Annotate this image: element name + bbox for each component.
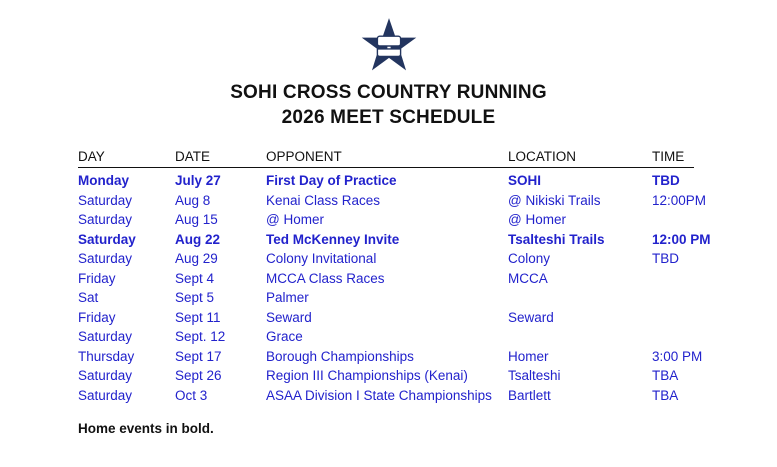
cell-date: Sept. 12 (175, 327, 266, 347)
table-row: MondayJuly 27First Day of PracticeSOHITB… (78, 168, 694, 191)
table-row: FridaySept 11SewardSeward (78, 308, 694, 328)
cell-date: Sept 5 (175, 288, 266, 308)
cell-opponent: Grace (266, 327, 508, 347)
cell-time: TBD (652, 249, 694, 269)
cell-opponent: Seward (266, 308, 508, 328)
cell-date: Sept 17 (175, 347, 266, 367)
cell-day: Saturday (78, 386, 175, 406)
cell-opponent: MCCA Class Races (266, 269, 508, 289)
cell-day: Saturday (78, 366, 175, 386)
cell-date: July 27 (175, 168, 266, 191)
table-row: FridaySept 4MCCA Class RacesMCCA (78, 269, 694, 289)
cell-date: Sept 11 (175, 308, 266, 328)
cell-date: Aug 15 (175, 210, 266, 230)
cell-day: Saturday (78, 249, 175, 269)
logo-container (0, 14, 777, 83)
cell-location: Bartlett (508, 386, 652, 406)
page-title-line2: 2026 MEET SCHEDULE (0, 105, 777, 130)
table-row: SatSept 5Palmer (78, 288, 694, 308)
cell-opponent: Region III Championships (Kenai) (266, 366, 508, 386)
cell-day: Saturday (78, 327, 175, 347)
cell-time (652, 269, 694, 289)
cell-location: SOHI (508, 168, 652, 191)
cell-time (652, 308, 694, 328)
cell-location: Seward (508, 308, 652, 328)
table-row: SaturdaySept 26Region III Championships … (78, 366, 694, 386)
table-row: SaturdaySept. 12Grace (78, 327, 694, 347)
cell-time: TBD (652, 168, 694, 191)
page-title-line1: SOHI CROSS COUNTRY RUNNING (0, 80, 777, 105)
cell-location: Colony (508, 249, 652, 269)
home-events-note: Home events in bold. (78, 421, 214, 436)
table-header: DAY DATE OPPONENT LOCATION TIME (78, 148, 694, 168)
cell-day: Friday (78, 308, 175, 328)
cell-time (652, 327, 694, 347)
cell-location: Homer (508, 347, 652, 367)
cell-opponent: Palmer (266, 288, 508, 308)
cell-time: 3:00 PM (652, 347, 694, 367)
cell-opponent: Colony Invitational (266, 249, 508, 269)
cell-date: Sept 26 (175, 366, 266, 386)
cell-opponent: Borough Championships (266, 347, 508, 367)
table-body: MondayJuly 27First Day of PracticeSOHITB… (78, 168, 694, 406)
cell-location: Tsalteshi Trails (508, 230, 652, 250)
cell-time: TBA (652, 386, 694, 406)
table-row: SaturdayOct 3ASAA Division I State Champ… (78, 386, 694, 406)
column-header-location: LOCATION (508, 148, 652, 168)
cell-date: Aug 29 (175, 249, 266, 269)
cell-day: Monday (78, 168, 175, 191)
cell-location: @ Nikiski Trails (508, 191, 652, 211)
cell-date: Sept 4 (175, 269, 266, 289)
cell-location: Tsalteshi (508, 366, 652, 386)
cell-location: MCCA (508, 269, 652, 289)
column-header-time: TIME (652, 148, 694, 168)
sohi-star-logo (360, 14, 418, 78)
table-row: SaturdayAug 15@ Homer@ Homer (78, 210, 694, 230)
cell-day: Saturday (78, 191, 175, 211)
cell-date: Oct 3 (175, 386, 266, 406)
cell-location: @ Homer (508, 210, 652, 230)
meet-schedule-table: DAY DATE OPPONENT LOCATION TIME MondayJu… (78, 148, 694, 405)
table-row: SaturdayAug 8Kenai Class Races@ Nikiski … (78, 191, 694, 211)
table-header-row: DAY DATE OPPONENT LOCATION TIME (78, 148, 694, 168)
cell-location (508, 288, 652, 308)
column-header-date: DATE (175, 148, 266, 168)
cell-day: Thursday (78, 347, 175, 367)
cell-opponent: ASAA Division I State Championships (266, 386, 508, 406)
cell-date: Aug 22 (175, 230, 266, 250)
title-block: SOHI CROSS COUNTRY RUNNING 2026 MEET SCH… (0, 80, 777, 130)
cell-opponent: Kenai Class Races (266, 191, 508, 211)
table-row: SaturdayAug 22Ted McKenney InviteTsaltes… (78, 230, 694, 250)
cell-time: TBA (652, 366, 694, 386)
cell-location (508, 327, 652, 347)
star-letter-s (377, 36, 400, 56)
cell-opponent: Ted McKenney Invite (266, 230, 508, 250)
cell-time: 12:00PM (652, 191, 694, 211)
column-header-opponent: OPPONENT (266, 148, 508, 168)
cell-day: Friday (78, 269, 175, 289)
cell-time (652, 288, 694, 308)
column-header-day: DAY (78, 148, 175, 168)
table-row: SaturdayAug 29Colony InvitationalColonyT… (78, 249, 694, 269)
cell-day: Saturday (78, 210, 175, 230)
cell-day: Sat (78, 288, 175, 308)
cell-opponent: First Day of Practice (266, 168, 508, 191)
cell-time: 12:00 PM (652, 230, 694, 250)
cell-time (652, 210, 694, 230)
cell-opponent: @ Homer (266, 210, 508, 230)
cell-date: Aug 8 (175, 191, 266, 211)
table-row: ThursdaySept 17Borough ChampionshipsHome… (78, 347, 694, 367)
cell-day: Saturday (78, 230, 175, 250)
